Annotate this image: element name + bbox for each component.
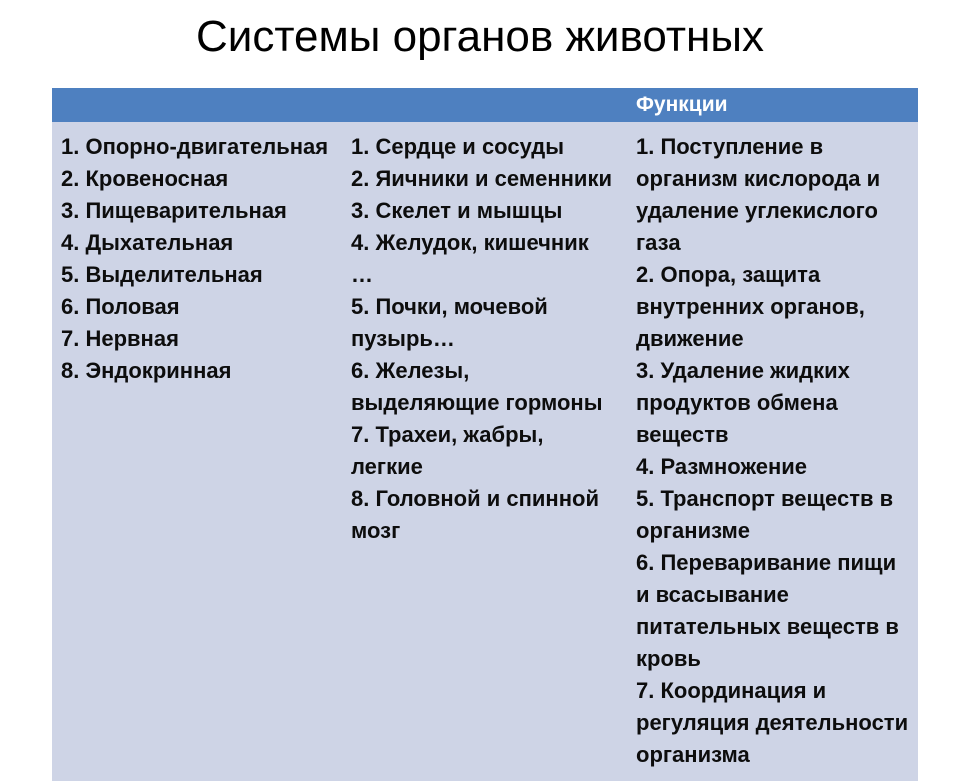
- list-item: 5. Почки, мочевой пузырь…: [351, 291, 612, 355]
- list-item: 7. Трахеи, жабры, легкие: [351, 419, 612, 483]
- list-item: 4. Желудок, кишечник …: [351, 227, 612, 291]
- list-item: 8. Головной и спинной мозг: [351, 483, 612, 547]
- list-item: 1. Сердце и сосуды: [351, 131, 612, 163]
- list-item: 1. Поступление в организм кислорода и уд…: [636, 131, 910, 259]
- list-item: 2. Кровеносная: [61, 163, 331, 195]
- list-item: 5. Транспорт веществ в организме: [636, 483, 910, 547]
- list-item: 4. Размножение: [636, 451, 910, 483]
- list-item: 6. Половая: [61, 291, 331, 323]
- list-item: 7. Координация и регуляция деятельности …: [636, 675, 910, 771]
- list-item: 2. Яичники и семенники: [351, 163, 612, 195]
- table-header-systems: [52, 88, 337, 122]
- organs-list: 1. Сердце и сосуды 2. Яичники и семенник…: [351, 131, 612, 547]
- list-item: 8. Эндокринная: [61, 355, 331, 387]
- functions-list: 1. Поступление в организм кислорода и уд…: [636, 131, 910, 771]
- cell-organ-systems: 1. Опорно-двигательная 2. Кровеносная 3.…: [52, 122, 337, 781]
- list-item: 2. Опора, защита внутренних органов, дви…: [636, 259, 910, 355]
- organ-systems-list: 1. Опорно-двигательная 2. Кровеносная 3.…: [61, 131, 331, 387]
- table-header-functions: Функции: [622, 88, 918, 122]
- list-item: 1. Опорно-двигательная: [61, 131, 331, 163]
- organ-systems-table: Функции 1. Опорно-двигательная 2. Кровен…: [52, 88, 918, 781]
- page-title: Системы органов животных: [0, 8, 960, 66]
- list-item: 4. Дыхательная: [61, 227, 331, 259]
- list-item: 5. Выделительная: [61, 259, 331, 291]
- list-item: 3. Пищеварительная: [61, 195, 331, 227]
- cell-organs: 1. Сердце и сосуды 2. Яичники и семенник…: [337, 122, 622, 781]
- list-item: 3. Удаление жидких продуктов обмена веще…: [636, 355, 910, 451]
- list-item: 3. Скелет и мышцы: [351, 195, 612, 227]
- list-item: 6. Переваривание пищи и всасывание питат…: [636, 547, 910, 675]
- list-item: 6. Железы, выделяющие гормоны: [351, 355, 612, 419]
- table-header-organs: [337, 88, 622, 122]
- table-row: 1. Опорно-двигательная 2. Кровеносная 3.…: [52, 122, 918, 781]
- cell-functions: 1. Поступление в организм кислорода и уд…: [622, 122, 918, 781]
- list-item: 7. Нервная: [61, 323, 331, 355]
- table-header-row: Функции: [52, 88, 918, 122]
